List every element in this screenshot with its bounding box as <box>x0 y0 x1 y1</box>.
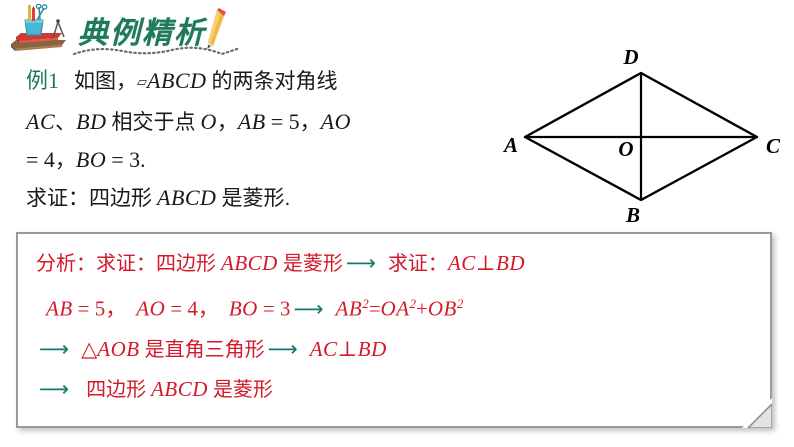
implication-arrow: ⟶ <box>265 337 300 361</box>
implication-arrow: ⟶ <box>343 251 378 275</box>
problem-line-1: 例1如图，▱ABCD的两条对角线 <box>26 62 496 103</box>
vertex-label-D: D <box>622 45 638 69</box>
implication-arrow: ⟶ <box>36 377 71 401</box>
implication-arrow: ⟶ <box>36 337 71 361</box>
rhombus-diagram: D A C B O <box>490 36 790 231</box>
implication-arrow: ⟶ <box>290 297 325 321</box>
analysis-line-2: AB= 5，AO= 4，BO= 3⟶AB2=OA2+OB2 <box>36 284 760 330</box>
problem-statement: 例1如图，▱ABCD的两条对角线 AC、BD相交于点O，AB= 5，AO = 4… <box>26 62 496 217</box>
problem-line-2: AC、BD相交于点O，AB= 5，AO <box>26 103 496 141</box>
vertex-label-B: B <box>625 203 640 227</box>
analysis-line-1: 分析：求证：四边形ABCD是菱形⟶求证：AC⊥BD <box>36 244 760 284</box>
slide-page: 典例精析 例1如图，▱ABCD的两条对角线 AC、BD相交于点O，AB= 5，A… <box>0 0 794 447</box>
vertex-label-O: O <box>618 137 633 161</box>
triangle-symbol: △ <box>81 337 97 361</box>
title-underline-squiggle <box>72 44 242 58</box>
parallelogram-symbol: ▱ <box>137 75 147 90</box>
analysis-lines: 分析：求证：四边形ABCD是菱形⟶求证：AC⊥BD AB= 5，AO= 4，BO… <box>36 244 760 410</box>
page-fold-corner-icon <box>742 398 772 428</box>
problem-line-4: 求证：四边形ABCD是菱形. <box>26 179 496 217</box>
analysis-line-3: ⟶△AOB是直角三角形⟶AC⊥BD <box>36 330 760 370</box>
pencil-cup-on-books-icon <box>6 4 72 54</box>
example-number: 例1 <box>26 68 59 93</box>
problem-line-3: = 4，BO= 3. <box>26 141 496 179</box>
analysis-box: 分析：求证：四边形ABCD是菱形⟶求证：AC⊥BD AB= 5，AO= 4，BO… <box>16 232 772 428</box>
vertex-label-A: A <box>502 133 518 157</box>
analysis-line-4: ⟶四边形ABCD是菱形 <box>36 370 760 410</box>
vertex-label-C: C <box>766 134 781 158</box>
rhombus-svg: D A C B O <box>490 36 790 231</box>
